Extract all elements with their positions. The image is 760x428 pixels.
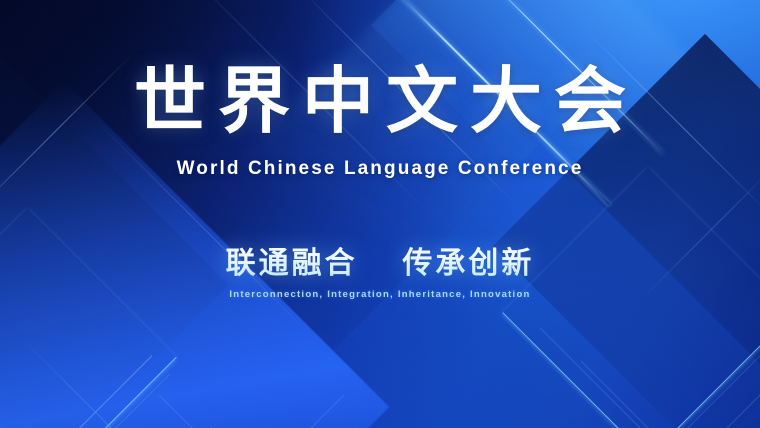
slogan-part-one: 联通融合 [226, 247, 358, 280]
banner-slogan-chinese: 联通融合 传承创新 [226, 238, 535, 282]
conference-banner: 世界中文大会 World Chinese Language Conference… [0, 0, 760, 428]
page-title: 世界中文大会 [122, 66, 638, 138]
slogan-part-two: 传承创新 [402, 247, 534, 280]
banner-subtitle: World Chinese Language Conference [177, 158, 584, 180]
banner-content: 世界中文大会 World Chinese Language Conference… [0, 0, 760, 428]
banner-slogan-english: Interconnection, Integration, Inheritanc… [229, 289, 530, 300]
